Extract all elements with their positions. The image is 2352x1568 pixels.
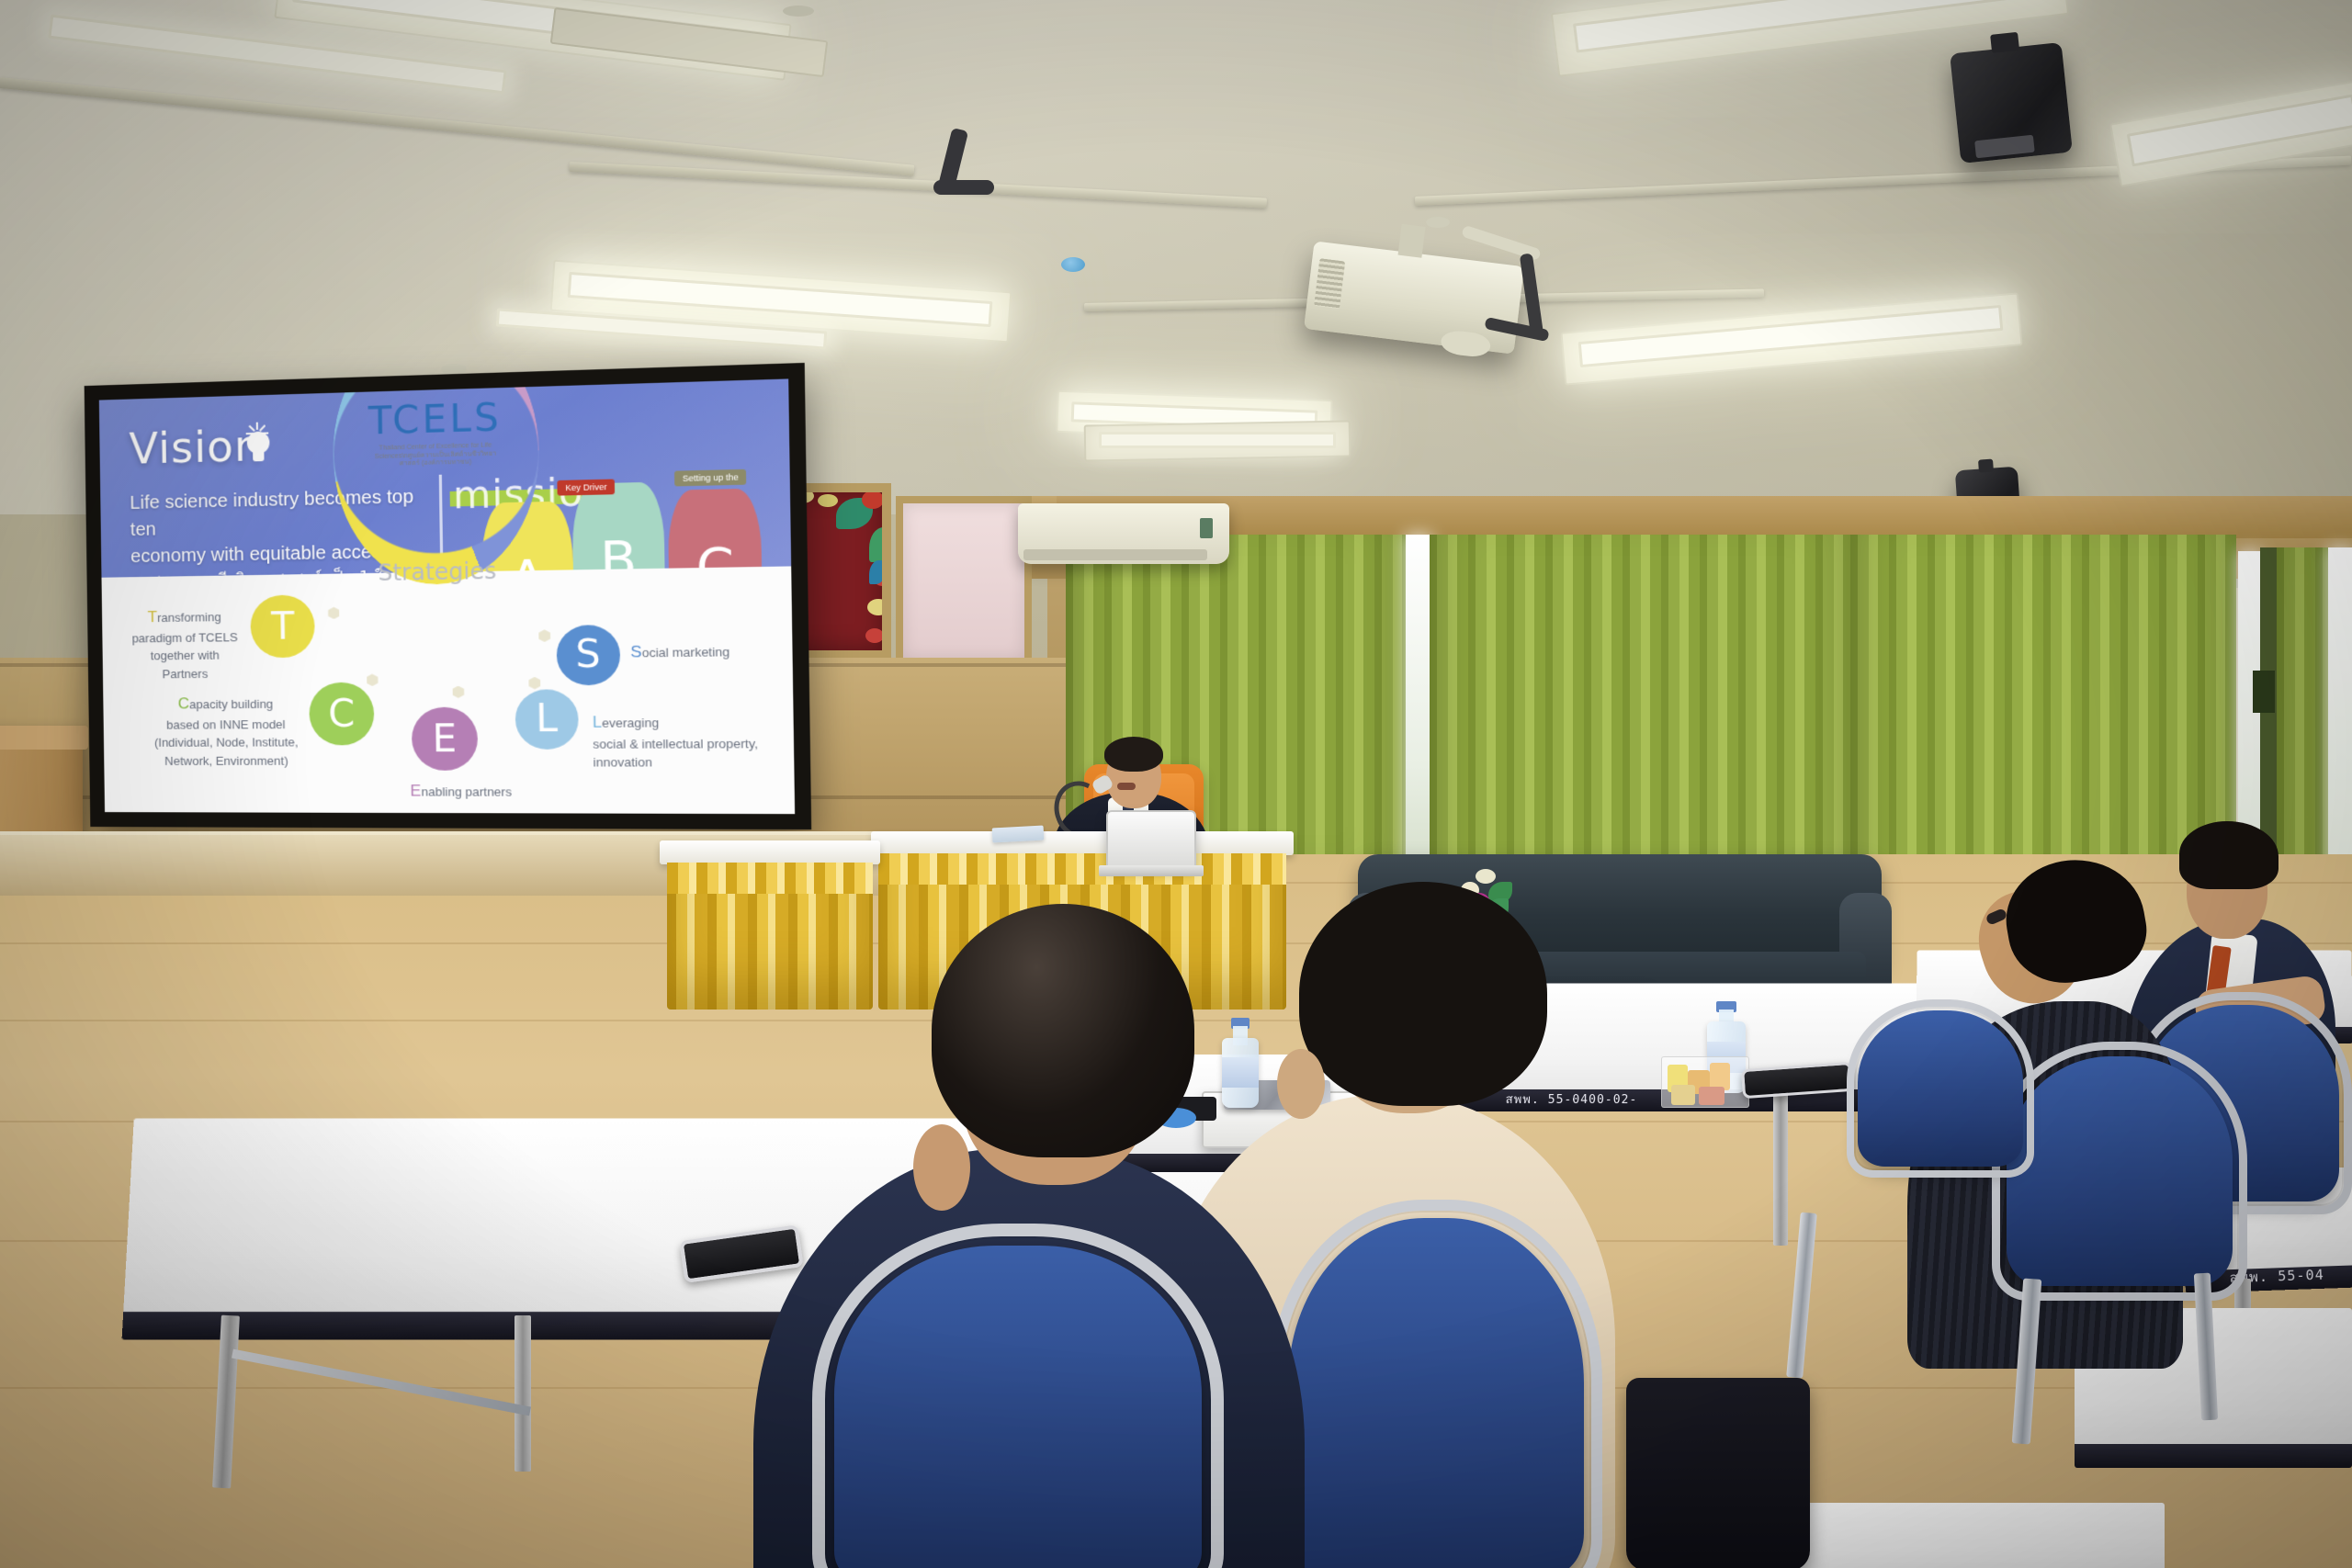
- head-table-top: [660, 840, 880, 864]
- water-bottle: [1222, 1018, 1259, 1108]
- c-lead: C: [177, 694, 189, 712]
- backpack: [1626, 1378, 1810, 1568]
- audience-chair: [1288, 1218, 1584, 1568]
- head-table-valance: [667, 863, 873, 894]
- head-table-valance: [878, 853, 1286, 885]
- audience-chair: [2007, 1056, 2233, 1286]
- l-line-2: innovation: [593, 753, 786, 773]
- slide-strategies-area: [101, 566, 795, 814]
- strategy-label-l: Leveraging social & intellectual propert…: [593, 709, 787, 772]
- presenter-mouth: [1117, 783, 1136, 790]
- strategies-center-label: Strategies: [361, 558, 513, 586]
- presentation-slide: Vision Life science industry becomes top…: [99, 378, 795, 814]
- person-ear: [1277, 1049, 1325, 1119]
- t-line-1: paradigm of TCELS: [122, 627, 248, 647]
- wall-board: [896, 496, 1032, 667]
- t-line-2: together with: [122, 646, 248, 665]
- tcels-logo-subtitle: Thailand Center of Excellence for Life S…: [367, 442, 504, 470]
- window-latch-icon: [2253, 671, 2275, 713]
- presenter-hair: [1104, 737, 1163, 772]
- ceiling-speaker: [1950, 42, 2073, 164]
- lightbulb-icon: [242, 424, 274, 465]
- strategy-label-e: Enabling partners: [357, 779, 565, 804]
- t-lead: T: [148, 608, 158, 626]
- tcels-wordmark: TCELS: [366, 396, 504, 444]
- audience-chair: [1858, 1010, 2023, 1167]
- t-line-3: Partners: [122, 664, 248, 683]
- person-hair: [932, 904, 1194, 1157]
- strategy-node-l: L: [514, 689, 579, 749]
- c-line-1: based on INNE model: [150, 715, 303, 733]
- t-rest: ransforming: [157, 610, 221, 625]
- table-asset-tag: สพพ. 55-0400-02-: [1505, 1089, 1637, 1109]
- strategy-node-e: E: [412, 707, 478, 771]
- projector-cable: [933, 180, 994, 195]
- strategy-node-c: C: [309, 682, 374, 746]
- head-table-top: [871, 831, 1294, 855]
- mission-pill-c: Setting up the: [674, 469, 747, 487]
- person-hair: [2179, 821, 2278, 889]
- e-lead: E: [410, 782, 421, 800]
- c-rest: apacity building: [189, 697, 273, 712]
- e-rest: nabling partners: [421, 784, 512, 799]
- presenter-papers: [992, 826, 1045, 843]
- curtain-pelmet: [1057, 496, 2352, 538]
- table-leg: [1773, 1089, 1788, 1246]
- strategy-label-c: Capacity building based on INNE model (I…: [149, 691, 303, 770]
- presenter-laptop: [1106, 810, 1196, 867]
- fluorescent-light: [1099, 432, 1336, 448]
- person-hair: [1299, 882, 1547, 1106]
- person-ear: [913, 1124, 970, 1211]
- air-conditioner-unit: [1018, 503, 1229, 564]
- l-line-1: social & intellectual property,: [593, 734, 786, 753]
- audience-chair: [834, 1246, 1202, 1568]
- strategy-label-t: Transforming paradigm of TCELS together …: [121, 604, 248, 683]
- fruit-box: [1661, 1056, 1749, 1108]
- smoke-detector-icon: [1426, 217, 1450, 228]
- strategy-node-s: S: [556, 625, 620, 685]
- strategy-label-s: Social marketing: [630, 637, 789, 663]
- c-line-3: Network, Environment): [150, 751, 303, 770]
- s-rest: ocial marketing: [642, 644, 730, 660]
- mission-pill-b: Key Driver: [558, 479, 616, 495]
- tcels-logo: TCELS Thailand Center of Excellence for …: [366, 396, 504, 469]
- l-lead: L: [593, 714, 603, 732]
- s-lead: S: [630, 642, 642, 660]
- conference-room-photo: Vision Life science industry becomes top…: [0, 0, 2352, 1568]
- head-table-left-section: [660, 840, 880, 1015]
- smoke-detector-icon: [783, 6, 814, 17]
- ceiling-sensor-icon: [1061, 257, 1085, 272]
- l-rest: everaging: [602, 716, 659, 730]
- projection-screen: Vision Life science industry becomes top…: [85, 363, 812, 829]
- table-leg: [514, 1315, 531, 1472]
- c-line-2: (Individual, Node, Institute,: [150, 733, 303, 751]
